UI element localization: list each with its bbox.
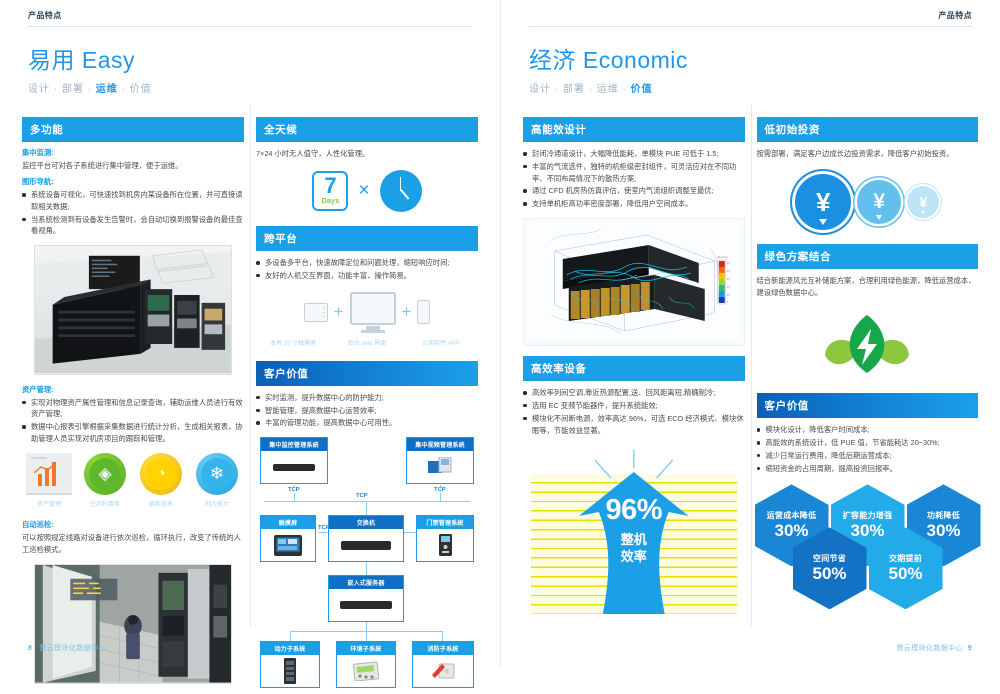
list-item: 实现对物理资产属性管理和信息记录查询，辅助运维人员进行有效资产管理; (22, 397, 244, 421)
bar-chart-board-icon (26, 453, 72, 495)
node-device-icon (329, 589, 403, 621)
node-label: 触摸屏 (261, 516, 315, 529)
left-page-columns: 多功能 集中监测: 监控平台可对各子系统进行集中管理，便于运维。 图形导航: 系… (0, 117, 500, 694)
list-item: 系统设备可视化，可快速找到机房内某设备所在位置，并可直接读取相关数据; (22, 189, 244, 213)
asset-icon-label: 制冷能力 (192, 499, 242, 508)
section-heading-efficient-equipment: 高效率设备 (523, 356, 745, 381)
list-item: 模块化不间断电源，效率高达 96%，可选 ECO 经济模式、模块休眠等，节能效益… (523, 413, 745, 437)
list-item: 多设备多平台，快速故障定位和问题处理，缩短响应时间; (256, 257, 478, 269)
asset-icon-label: 空间利用率 (80, 499, 130, 508)
monitor-icon (350, 292, 396, 333)
data-center-3d-photo-wrap (22, 245, 244, 374)
phone-icon (417, 300, 430, 324)
right-column: 低初始投资 按需部署，满足客户边成长边投资需求，降低客户初始投资。 ¥ ¥ ¥ (757, 117, 979, 640)
hexagon-label: 交期提前 (889, 553, 922, 564)
list-item: 减少日常运行费用，降低后期运营成本; (757, 450, 979, 462)
node-label: 门禁管理系统 (417, 516, 473, 529)
environment-controller-icon (353, 661, 379, 681)
column-divider (751, 104, 752, 627)
list-item: 友好的人机交互界面，功能丰富，操作简易。 (256, 270, 478, 282)
plus-sign: + (334, 302, 344, 322)
system-topology-diagram: TCP TCP TCP TCP 集中监控管理系统 集中视频管理系统 (256, 437, 478, 677)
layers-icon: ◈ (84, 453, 126, 495)
gauge-icon: ◔ (140, 453, 182, 495)
hexagon-value: 30% (774, 521, 808, 541)
node-label: 交换机 (329, 516, 403, 529)
left-page-header: 产品特点 易用 Easy 设计 · 部署 · 运维 · 价值 (0, 0, 500, 95)
text-green-solution: 结合新能源风光互补储能方案，合理利用绿色能源，降低运营成本，建设绿色数据中心。 (757, 275, 979, 299)
node-label: 环境子系统 (337, 642, 395, 655)
video-server-icon (428, 457, 452, 477)
cfd-image-wrap: 3025 2015 105 Velo (m/s) (523, 218, 745, 346)
currency-symbol: ¥ (873, 190, 885, 214)
yen-coin-large: ¥ (795, 174, 851, 230)
asset-icon-label: 资产管理 (24, 499, 74, 508)
touchscreen-icon (274, 535, 302, 556)
days-label: Days (321, 197, 339, 205)
page-title: 经济 Economic (529, 41, 972, 75)
cfd-color-legend: 3025 2015 105 Velo (m/s) (717, 256, 730, 304)
label-centralized-monitoring: 集中监测: (22, 148, 244, 158)
access-panel-icon (439, 534, 452, 556)
efficiency-arrow-graphic: 96% 整机效率 (523, 450, 745, 640)
topology-node-switch[interactable]: 交换机 (328, 515, 404, 562)
down-arrow-icon (876, 215, 882, 220)
list-item: 缩短资金的占用周期，提高投资回报率。 (757, 463, 979, 475)
text-allweather: 7×24 小时无人值守，人性化管理。 (256, 148, 478, 160)
down-arrow-icon (819, 219, 827, 225)
right-column: 全天候 7×24 小时无人值守，人性化管理。 7 Days × 跨平台 多设备多… (256, 117, 478, 694)
right-page: 产品特点 经济 Economic 设计 · 部署 · 运维 · 价值 高能效设计… (500, 0, 1000, 667)
breadcrumb: 产品特点 (28, 10, 472, 21)
topology-node-central-monitoring[interactable]: 集中监控管理系统 (260, 437, 328, 484)
asset-icon-item: ❄ 制冷能力 (192, 453, 242, 508)
page-title: 易用 Easy (28, 41, 472, 75)
column-divider (250, 104, 251, 627)
topology-node-embedded-server[interactable]: 嵌入式服务器 (328, 575, 404, 622)
bullets-graphic-navigation: 系统设备可视化，可快速找到机房内某设备所在位置，并可直接读取相关数据; 当系统检… (22, 189, 244, 237)
text-auto-inspection: 可以按照规定线路对设备进行依次巡检，循环执行，改变了传统的人工巡检模式。 (22, 532, 244, 556)
list-item: 智能管理，提高数据中心运营效率; (256, 405, 478, 417)
list-item: 高效率列间空调,靠近热源配置,送、回风距离短,精确制冷; (523, 387, 745, 399)
subtitle-highlight: 运维 (96, 84, 118, 95)
hexagon-value: 50% (812, 564, 846, 584)
list-item: 丰富的气流选件，独特的机柜级密封组件，可灵活应对在不同功率、不同布局情况下的散热… (523, 161, 745, 185)
benefit-hexagons: 运营成本降低 30% 扩容能力增强 30% 功耗降低 30% 空间节省 50% (757, 484, 979, 624)
topology-line (442, 631, 443, 641)
topology-node-power-subsystem[interactable]: 动力子系统 (260, 641, 320, 688)
node-device-icon (337, 655, 395, 687)
efficiency-value: 96% (523, 494, 745, 527)
label-asset-management: 资产管理: (22, 385, 244, 395)
power-cabinet-icon (284, 658, 296, 684)
list-item: 当系统检测到有设备发生告警时，会自动切换到报警设备的最佳查看视角。 (22, 214, 244, 238)
node-label: 嵌入式服务器 (329, 576, 403, 589)
subtitle-part-2: · 价值 (118, 84, 152, 95)
section-heading-green-solution: 绿色方案结合 (757, 244, 979, 269)
hexagon-value: 30% (850, 521, 884, 541)
topology-node-central-video[interactable]: 集中视频管理系统 (406, 437, 474, 484)
subtitle-part-1: 设计 · 部署 · (28, 84, 96, 95)
hexagon-label: 空间节省 (813, 553, 846, 564)
bullets-crossplatform: 多设备多平台，快速故障定位和问题处理，缩短响应时间; 友好的人机交互界面，功能丰… (256, 257, 478, 282)
page-subtitle: 设计 · 部署 · 运维 · 价值 (529, 80, 972, 95)
multiply-sign: × (358, 180, 369, 202)
data-center-3d-view-photo (34, 245, 232, 374)
tablet-icon (304, 303, 328, 322)
green-leaf-bolt-icon (819, 313, 915, 383)
section-heading-high-efficiency-design: 高能效设计 (523, 117, 745, 142)
list-item: 高能效的系统设计，低 PUE 值，节省能耗达 20~30%; (757, 437, 979, 449)
topology-node-access-control[interactable]: 门禁管理系统 (416, 515, 474, 562)
currency-symbol: ¥ (919, 194, 927, 211)
down-arrow-icon (921, 211, 925, 215)
left-page: 产品特点 易用 Easy 设计 · 部署 · 运维 · 价值 多功能 集中监测:… (0, 0, 500, 667)
section-heading-multifunction: 多功能 (22, 117, 244, 142)
page-number: 9 (968, 645, 972, 652)
list-item: 选用 EC 变频节能器件，提升系统能效; (523, 400, 745, 412)
topology-node-touchscreen[interactable]: 触摸屏 (260, 515, 316, 562)
left-page-footer: 8 慧云模块化数据中心 (28, 643, 106, 653)
node-device-icon (417, 529, 473, 561)
breadcrumb: 产品特点 (529, 10, 972, 21)
hexagon-value: 30% (926, 521, 960, 541)
yen-coin-small: ¥ (907, 186, 939, 218)
investment-coins-graphic: ¥ ¥ ¥ (757, 174, 979, 230)
node-device-icon (407, 451, 473, 483)
section-heading-crossplatform: 跨平台 (256, 226, 478, 251)
topology-line (366, 631, 367, 641)
header-divider (28, 26, 472, 27)
cfd-airflow-simulation-image: 3025 2015 105 Velo (m/s) (528, 223, 740, 341)
section-heading-allweather: 全天候 (256, 117, 478, 142)
topology-line (264, 501, 470, 502)
list-item: 支持单机柜高功率密度部署，降低用户空间成本。 (523, 198, 745, 210)
inspection-photo-wrap (22, 564, 244, 684)
seven-days-box: 7 Days (312, 171, 348, 211)
snowflake-icon: ❄ (196, 453, 238, 495)
list-item: 模块化设计，降低客户时间成本; (757, 424, 979, 436)
plus-sign: + (402, 302, 412, 322)
hexagon-label: 功耗降低 (927, 510, 960, 521)
node-label: 集中视频管理系统 (407, 438, 473, 451)
header-divider (529, 26, 972, 27)
text-low-initial-investment: 按需部署，满足客户边成长边投资需求，降低客户初始投资。 (757, 148, 979, 160)
bullets-customer-value: 模块化设计，降低客户时间成本; 高能效的系统设计，低 PUE 值，节省能耗达 2… (757, 424, 979, 474)
section-heading-customer-value: 客户价值 (757, 393, 979, 418)
trend-line-icon (34, 461, 64, 475)
list-item: 丰富的管理功能，提高数据中心可用性。 (256, 417, 478, 429)
efficiency-label: 整机效率 (620, 532, 648, 565)
right-page-header: 产品特点 经济 Economic 设计 · 部署 · 运维 · 价值 (501, 0, 1000, 95)
topology-line (290, 631, 291, 641)
node-label: 消防子系统 (413, 642, 473, 655)
node-label: 动力子系统 (261, 642, 319, 655)
node-device-icon (413, 655, 473, 687)
section-heading-low-initial-investment: 低初始投资 (757, 117, 979, 142)
topology-node-environment-subsystem[interactable]: 环境子系统 (336, 641, 396, 688)
topology-link-label: TCP (354, 493, 370, 499)
bullets-customer-value: 实时监测，提升数据中心的防护能力; 智能管理，提高数据中心运营效率; 丰富的管理… (256, 392, 478, 429)
left-column: 高能效设计 封闭冷通道设计，大幅降低能耗，单模块 PUE 可低于 1.5; 丰富… (523, 117, 745, 640)
topology-link-label: TCP (432, 487, 448, 493)
subtitle-highlight: 价值 (631, 84, 653, 95)
platform-label: 本地 10 寸触摸屏 (256, 338, 330, 347)
yen-coin-medium: ¥ (857, 180, 901, 224)
days-number: 7 (324, 176, 336, 197)
data-center-aisle-inspection-photo (34, 564, 232, 684)
topology-node-fire-subsystem[interactable]: 消防子系统 (412, 641, 474, 688)
node-label: 集中监控管理系统 (261, 438, 327, 451)
list-item: 实时监测，提升数据中心的防护能力; (256, 392, 478, 404)
node-device-icon (261, 451, 327, 483)
asset-icon-row: 资产管理 ◈ 空间利用率 ◔ 能耗效率 ❄ 制冷能力 (24, 453, 242, 508)
fire-alarm-icon (430, 661, 456, 681)
asset-icon-label: 能耗效率 (136, 499, 186, 508)
currency-symbol: ¥ (816, 187, 830, 218)
asset-icon-item: ◈ 空间利用率 (80, 453, 130, 508)
footer-text: 慧云模块化数据中心 (896, 645, 963, 652)
platform-label-row: 本地 10 寸触摸屏 后台 web 界面 公用软件 APP (256, 338, 478, 347)
label-auto-inspection: 自动巡检: (22, 520, 244, 530)
right-page-columns: 高能效设计 封闭冷通道设计，大幅降低能耗，单模块 PUE 可低于 1.5; 丰富… (501, 117, 1000, 640)
svg-text:Velo (m/s): Velo (m/s) (717, 256, 728, 259)
right-page-footer: 慧云模块化数据中心 9 (896, 643, 972, 653)
platform-label: 公用软件 APP (404, 338, 478, 347)
node-device-icon (261, 529, 315, 561)
subtitle-part-1: 设计 · 部署 · 运维 · (529, 84, 631, 95)
node-device-icon (261, 655, 319, 687)
page-subtitle: 设计 · 部署 · 运维 · 价值 (28, 80, 472, 95)
hexagon-label: 运营成本降低 (767, 510, 817, 521)
page-number: 8 (28, 645, 32, 652)
brochure-spread: 产品特点 易用 Easy 设计 · 部署 · 运维 · 价值 多功能 集中监测:… (0, 0, 1000, 667)
hexagon-value: 50% (888, 564, 922, 584)
asset-icon-item: 资产管理 (24, 453, 74, 508)
platform-label: 后台 web 界面 (330, 338, 404, 347)
list-item: 通过 CFD 机房热仿真评估，使室内气流组织调整至最优; (523, 185, 745, 197)
hexagon-label: 扩容能力增强 (843, 510, 893, 521)
label-graphic-navigation: 图形导航: (22, 177, 244, 187)
topology-line (366, 501, 367, 515)
bullets-asset-management: 实现对物理资产属性管理和信息记录查询，辅助运维人员进行有效资产管理; 数据中心报… (22, 397, 244, 445)
bullets-efficient-equipment: 高效率列间空调,靠近热源配置,送、回风距离短,精确制冷; 选用 EC 变频节能器… (523, 387, 745, 436)
platform-icon-row: + + (256, 292, 478, 333)
clock-icon (380, 170, 422, 212)
list-item: 数据中心报表引擎根据采集数据进行统计分析，生成相关报表，协助管理人员实现对机房项… (22, 421, 244, 445)
topology-link-label: TCP (286, 487, 302, 493)
green-leaf-graphic-wrap (757, 313, 979, 383)
seven-days-graphic: 7 Days × (256, 170, 478, 212)
node-device-icon (329, 529, 403, 561)
left-column: 多功能 集中监测: 监控平台可对各子系统进行集中管理，便于运维。 图形导航: 系… (22, 117, 244, 694)
footer-text: 慧云模块化数据中心 (39, 645, 106, 652)
list-item: 封闭冷通道设计，大幅降低能耗，单模块 PUE 可低于 1.5; (523, 148, 745, 160)
section-heading-customer-value: 客户价值 (256, 361, 478, 386)
asset-icon-item: ◔ 能耗效率 (136, 453, 186, 508)
text-centralized-monitoring: 监控平台可对各子系统进行集中管理，便于运维。 (22, 160, 244, 172)
bullets-high-efficiency-design: 封闭冷通道设计，大幅降低能耗，单模块 PUE 可低于 1.5; 丰富的气流选件，… (523, 148, 745, 210)
